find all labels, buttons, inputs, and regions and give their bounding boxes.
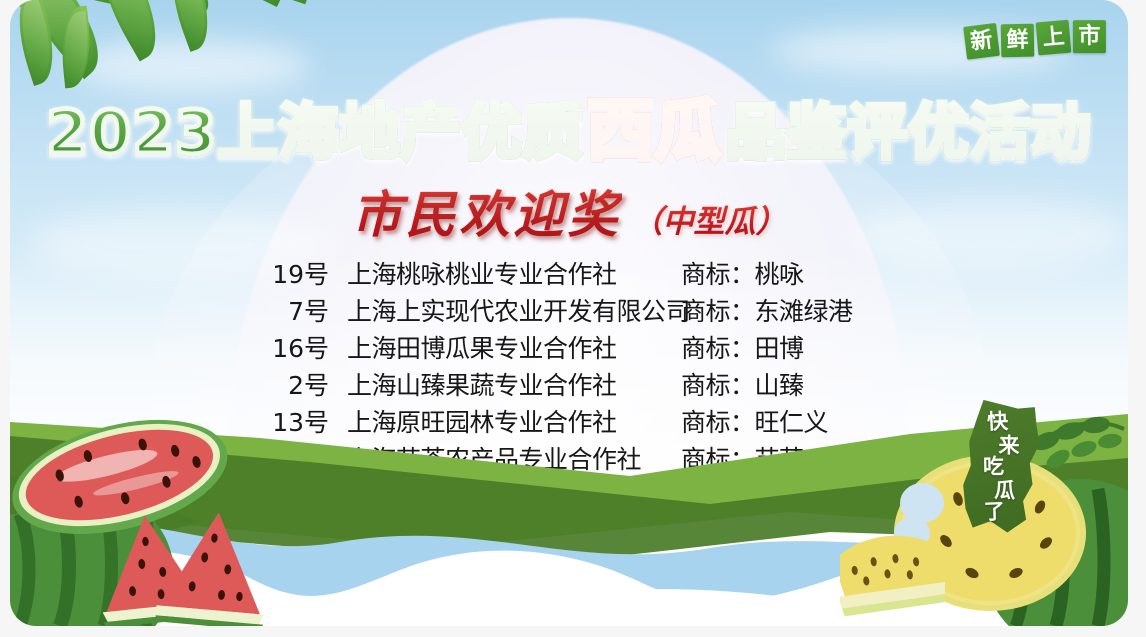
poster-root: 新 鲜 上 市 2023上海地产优质西瓜品鉴评优活动 市民欢迎奖（中型瓜） 19… — [0, 0, 1146, 637]
winner-company: 上海桃咏桃业专业合作社 — [329, 255, 681, 291]
eat-melon-text: 快 来 吃 瓜 了 — [962, 401, 1041, 534]
leaf-sprig — [1030, 415, 1124, 472]
melon-stripe — [1098, 489, 1104, 626]
award-name: 市民欢迎奖 — [352, 185, 622, 244]
brand-name: 东滩绿港 — [755, 297, 853, 326]
melon-bite — [900, 483, 944, 523]
winner-row: 7号 上海上实现代农业开发有限公司 商标：东滩绿港 — [257, 292, 897, 329]
title-highlight: 西瓜 — [584, 92, 726, 169]
eat-char: 了 — [983, 500, 1005, 522]
winner-brand: 商标：东滩绿港 — [681, 292, 897, 328]
title-part-2: 品鉴评优活动 — [726, 98, 1092, 168]
award-category: （中型瓜） — [632, 204, 787, 240]
badge-char: 上 — [1036, 20, 1072, 56]
fresh-on-market-badge: 新 鲜 上 市 — [964, 18, 1107, 58]
title-part-1: 2023上海地产优质 — [47, 98, 584, 168]
leaf-icon — [158, 0, 223, 52]
red-watermelon-illustration — [10, 396, 302, 626]
winner-brand: 商标：桃咏 — [681, 255, 897, 291]
brand-name: 桃咏 — [755, 260, 804, 289]
page-title: 2023上海地产优质西瓜品鉴评优活动 — [10, 98, 1128, 164]
winner-row: 19号 上海桃咏桃业专业合作社 商标：桃咏 — [257, 255, 897, 292]
badge-char: 鲜 — [1001, 24, 1035, 58]
eat-char: 吃 — [982, 456, 1003, 478]
eat-melon-label: 快 来 吃 瓜 了 — [957, 399, 1044, 535]
poster-card: 新 鲜 上 市 2023上海地产优质西瓜品鉴评优活动 市民欢迎奖（中型瓜） 19… — [10, 0, 1128, 626]
winner-number: 7号 — [257, 292, 329, 328]
award-subtitle: 市民欢迎奖（中型瓜） — [10, 190, 1128, 240]
winner-company: 上海上实现代农业开发有限公司 — [329, 292, 681, 328]
badge-char: 新 — [963, 23, 1000, 60]
winner-number: 19号 — [257, 255, 329, 291]
badge-char: 市 — [1073, 20, 1106, 53]
brand-label: 商标： — [681, 297, 755, 326]
eat-char: 快 — [986, 411, 1008, 433]
brand-label: 商标： — [681, 260, 755, 289]
